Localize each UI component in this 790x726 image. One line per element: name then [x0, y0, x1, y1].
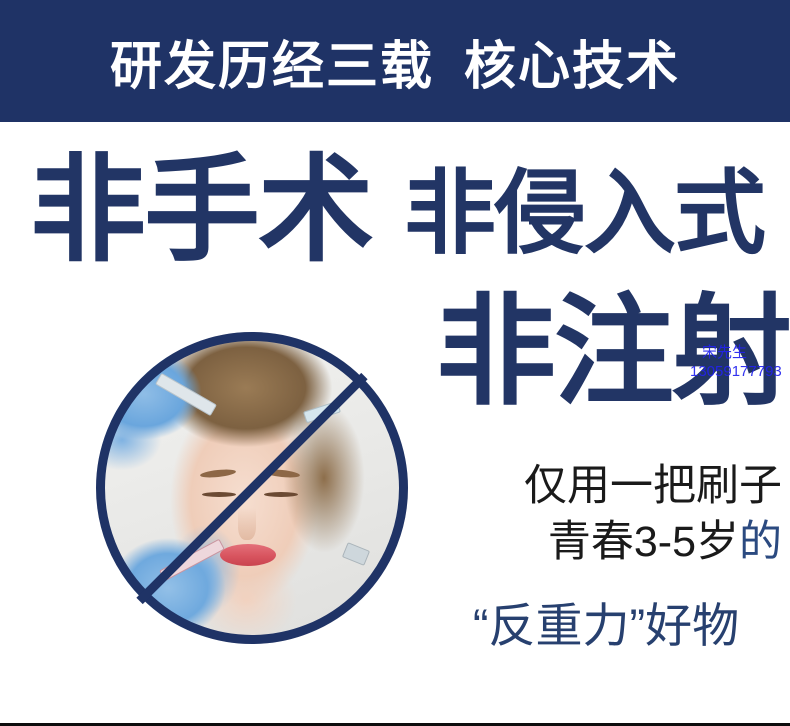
headline-non-surgical: 非手术 — [30, 152, 372, 268]
poster-root: 研发历经三载 核心技术 非手术 非侵入式 非注射 宋先生 13059177793 — [0, 0, 790, 726]
subcopy-line-1: 仅用一把刷子 — [430, 458, 782, 514]
subcopy-line-2: 青春3-5岁的 — [430, 514, 782, 570]
headline-non-injection: 非注射 — [436, 292, 790, 412]
subcopy-line-3: “反重力”好物 — [430, 596, 782, 656]
prohibited-treatment-figure — [96, 332, 408, 644]
header-banner-title: 研发历经三载 核心技术 — [0, 0, 790, 122]
header-banner: 研发历经三载 核心技术 — [0, 0, 790, 122]
headline-non-invasive: 非侵入式 — [404, 168, 764, 260]
subcopy-line-2-plain: 青春3-5岁 — [548, 518, 739, 566]
subcopy-block: 仅用一把刷子 青春3-5岁的 “反重力”好物 — [430, 458, 782, 656]
subcopy-line-2-accent: 的 — [739, 518, 782, 566]
